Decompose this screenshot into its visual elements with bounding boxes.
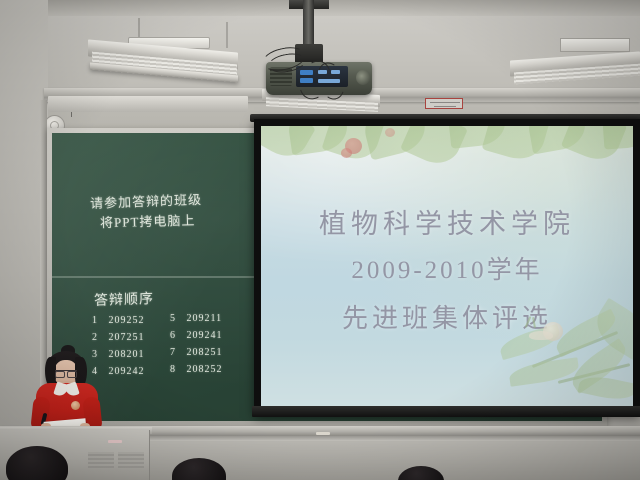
item-number: 6 (170, 330, 183, 341)
item-code: 209252 (109, 315, 145, 326)
pink-blossom-petal-icon (385, 128, 395, 137)
chalk-list-item: 8 208252 (170, 364, 223, 381)
sweater-emblem (71, 401, 80, 410)
mount-pole (303, 0, 314, 46)
item-number: 1 (92, 315, 105, 326)
board-divider (52, 276, 262, 278)
screen-bottom-bar (252, 406, 640, 417)
classroom-scene: 请参加答辩的班级 将PPT拷电脑上 答辩顺序 1 209252 2 207251… (0, 0, 640, 480)
item-code: 208252 (187, 364, 223, 375)
window-blind (48, 96, 248, 112)
item-number: 8 (170, 364, 183, 375)
item-number: 5 (170, 313, 183, 324)
warning-sign-icon (425, 98, 463, 109)
chalk-note-line1: 请参加答辩的班级 (90, 189, 203, 212)
item-code: 209241 (187, 330, 223, 341)
chalk-note-line2: 将PPT拷电脑上 (100, 210, 196, 231)
projector-lens-icon (356, 70, 370, 85)
chalk-list-item: 5 209211 (170, 313, 223, 330)
slide-title-line2: 2009-2010学年 (261, 250, 633, 286)
projection-screen: 植物科学技术学院 2009-2010学年 先进班集体评选 (261, 126, 633, 408)
item-code: 208251 (187, 347, 223, 358)
chalk-list-item: 6 209241 (170, 330, 223, 347)
item-code: 208201 (109, 349, 145, 360)
item-code: 207251 (109, 332, 145, 343)
glasses-icon (55, 370, 77, 375)
pink-blossom-petal-icon (341, 148, 352, 158)
item-number: 2 (92, 332, 105, 343)
slide-title-line1: 植物科学技术学院 (261, 202, 633, 241)
chalk-list-item: 7 208251 (170, 347, 223, 364)
chalk-list-item: 1 209252 (92, 315, 145, 332)
chalk-piece (316, 432, 330, 435)
chalk-list-title: 答辩顺序 (94, 288, 155, 310)
chalk-right-column: 5 209211 6 209241 7 208251 8 208252 (170, 313, 223, 381)
item-code: 209242 (109, 366, 145, 377)
item-number: 7 (170, 347, 183, 358)
chalk-piece (108, 440, 122, 443)
item-code: 209211 (187, 313, 223, 324)
